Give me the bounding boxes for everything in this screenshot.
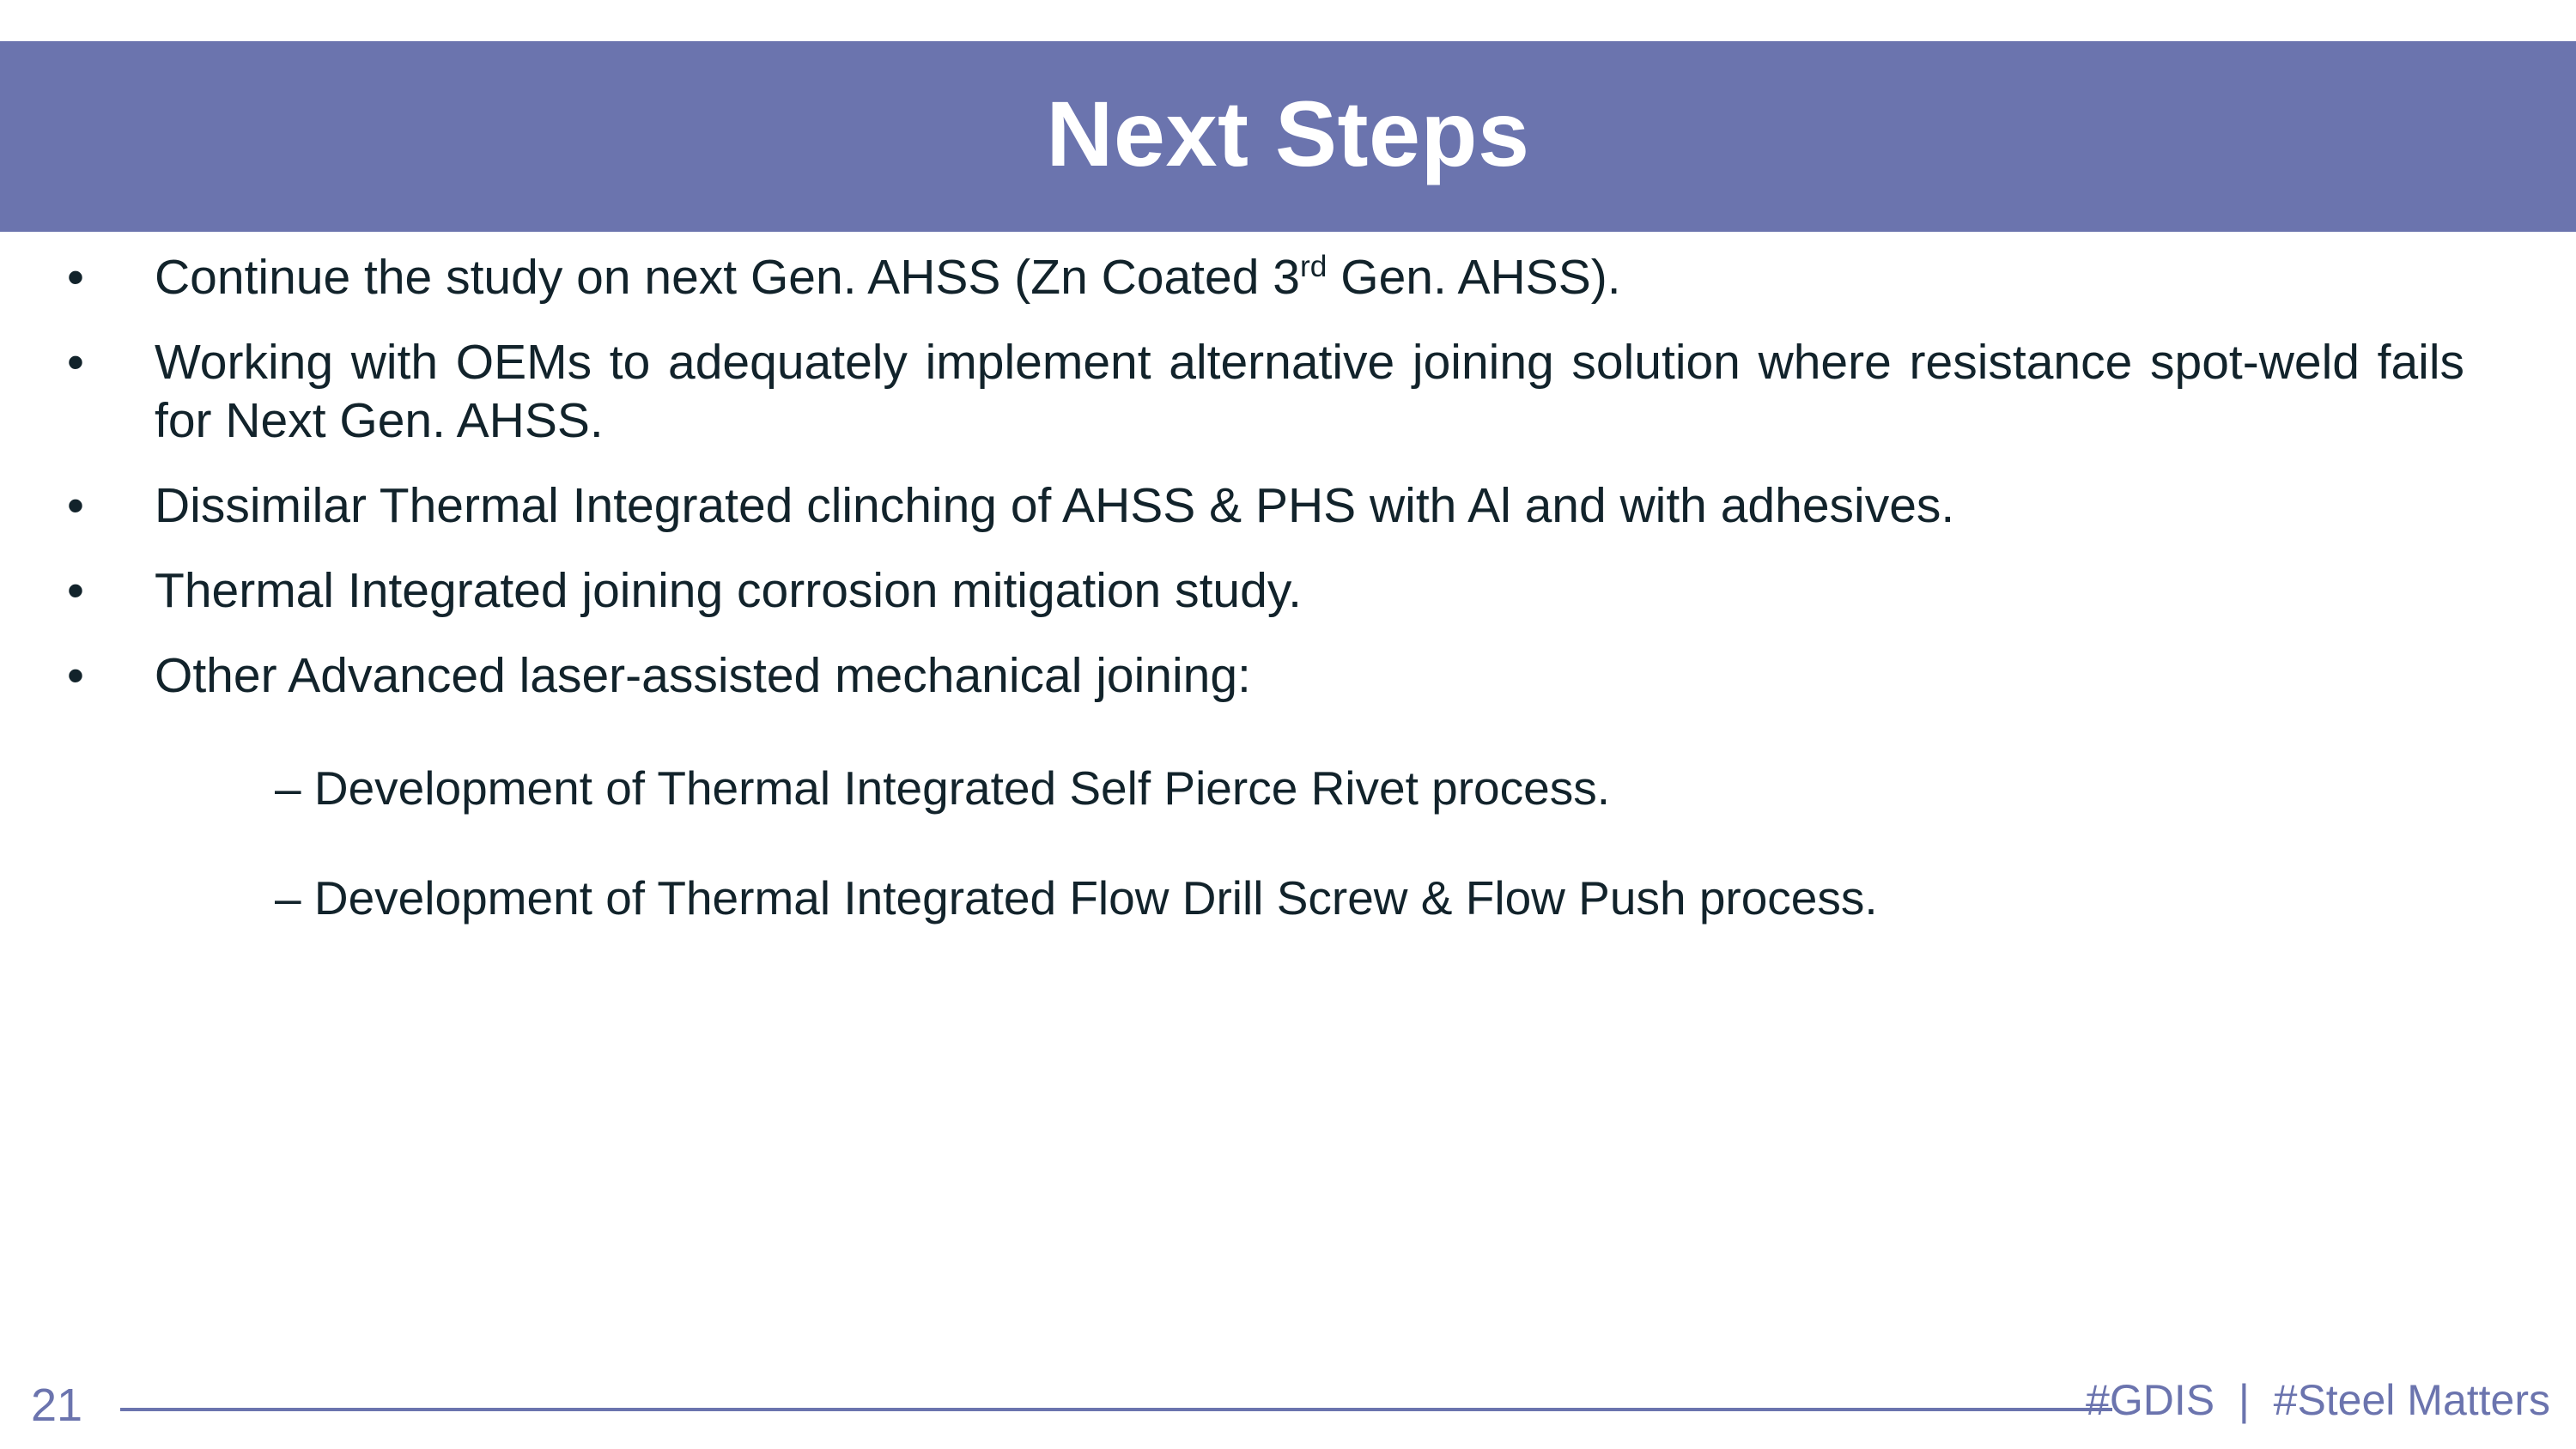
dash-marker-icon: –: [275, 871, 301, 925]
slide-footer: 21 #GDIS | #Steel Matters: [0, 1360, 2576, 1449]
title-banner: Next Steps: [0, 41, 2576, 232]
bullet-text: Dissimilar Thermal Integrated clinching …: [155, 478, 1954, 533]
superscript-ordinal: rd: [1300, 250, 1327, 283]
spacer: [0, 306, 2576, 334]
bullet-text: Working with OEMs to adequately implemen…: [155, 335, 2464, 447]
dash-marker-icon: –: [275, 761, 301, 815]
bullet-marker-icon: •: [67, 477, 84, 535]
sub-bullet-item: – Development of Thermal Integrated Self…: [0, 761, 2576, 816]
bullet-marker-icon: •: [67, 647, 84, 705]
spacer: [0, 706, 2576, 733]
bullet-text: Other Advanced laser-assisted mechanical…: [155, 648, 1251, 703]
sub-bullet-text: Development of Thermal Integrated Flow D…: [314, 871, 1878, 925]
bullet-text-part-2: Gen. AHSS).: [1327, 250, 1620, 305]
bullet-marker-icon: •: [67, 249, 84, 306]
bullet-item: • Dissimilar Thermal Integrated clinchin…: [0, 477, 2576, 535]
bullet-item: • Thermal Integrated joining corrosion m…: [0, 562, 2576, 620]
spacer: [0, 733, 2576, 761]
sub-bullet-text: Development of Thermal Integrated Self P…: [314, 761, 1610, 815]
slide: Next Steps • Continue the study on next …: [0, 0, 2576, 1449]
slide-body: • Continue the study on next Gen. AHSS (…: [0, 249, 2576, 1356]
bullet-marker-icon: •: [67, 562, 84, 620]
spacer: [0, 815, 2576, 843]
page-title: Next Steps: [1046, 88, 1529, 180]
bullet-text: Thermal Integrated joining corrosion mit…: [155, 563, 1302, 618]
bullet-text-part-1: Continue the study on next Gen. AHSS (Zn…: [155, 250, 1300, 305]
footer-hashtags: #GDIS | #Steel Matters: [2086, 1379, 2550, 1422]
spacer: [0, 535, 2576, 562]
sub-bullet-item: – Development of Thermal Integrated Flow…: [0, 870, 2576, 926]
bullet-marker-icon: •: [67, 334, 84, 391]
spacer: [0, 843, 2576, 870]
page-number: 21: [31, 1382, 82, 1428]
bullet-item: • Other Advanced laser-assisted mechanic…: [0, 647, 2576, 705]
footer-divider: [120, 1408, 2061, 1411]
spacer: [0, 450, 2576, 477]
spacer: [0, 620, 2576, 647]
bullet-item: • Working with OEMs to adequately implem…: [0, 334, 2576, 450]
bullet-item: • Continue the study on next Gen. AHSS (…: [0, 249, 2576, 306]
